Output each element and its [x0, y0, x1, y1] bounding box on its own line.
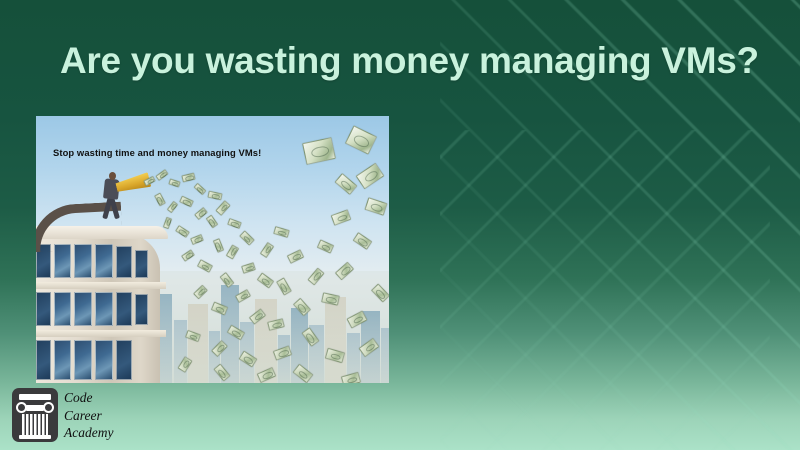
ionic-column-icon [12, 388, 58, 442]
brand-line-2: Career [64, 407, 113, 425]
brand-logo: Code Career Academy [12, 388, 142, 444]
slide-title: Are you wasting money managing VMs? [60, 40, 760, 82]
slide-image: Stop wasting time and money managing VMs… [36, 116, 389, 383]
businessman-figure [96, 172, 136, 226]
presentation-slide: Are you wasting money managing VMs? [0, 0, 800, 450]
image-caption: Stop wasting time and money managing VMs… [53, 147, 261, 158]
brand-line-3: Academy [64, 424, 113, 442]
brand-name: Code Career Academy [64, 389, 113, 442]
diagonal-lines-decoration-secondary [440, 130, 770, 450]
photo-scene: Stop wasting time and money managing VMs… [36, 116, 389, 383]
brand-line-1: Code [64, 389, 113, 407]
